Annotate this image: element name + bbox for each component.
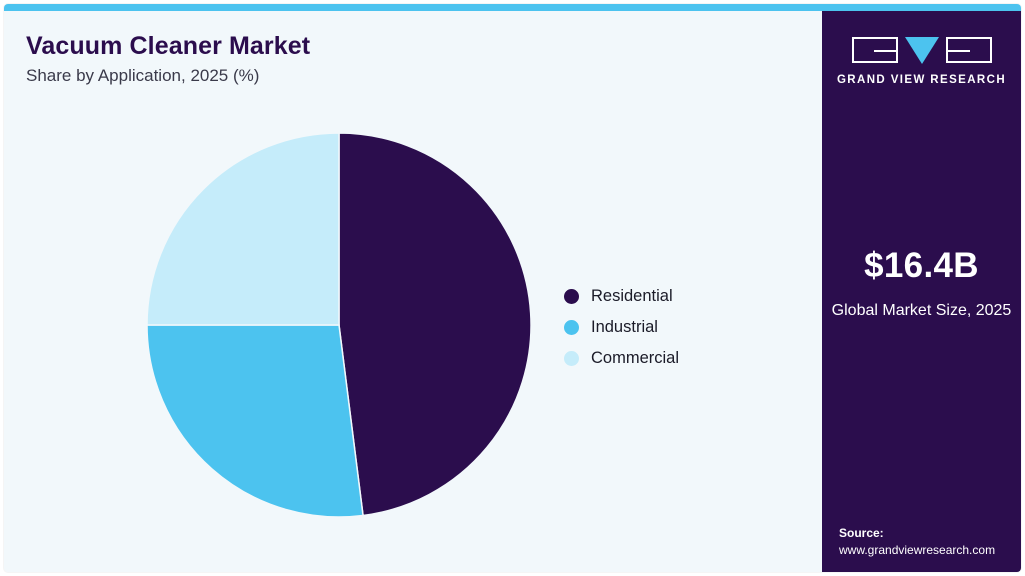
- source-url: www.grandviewresearch.com: [839, 543, 1019, 557]
- logo-left-bracket-icon: [852, 37, 898, 63]
- page-subtitle: Share by Application, 2025 (%): [26, 66, 259, 86]
- legend-label: Commercial: [591, 349, 679, 368]
- chart-legend: Residential Industrial Commercial: [564, 281, 794, 374]
- legend-label: Residential: [591, 287, 673, 306]
- logo: GRAND VIEW RESEARCH: [822, 33, 1021, 86]
- page-title: Vacuum Cleaner Market: [26, 32, 310, 61]
- pie-chart: [146, 132, 532, 518]
- logo-triangle-icon: [905, 37, 939, 64]
- logo-marks: [822, 33, 1021, 67]
- source-label: Source:: [839, 526, 1019, 540]
- logo-right-bracket-icon: [946, 37, 992, 63]
- legend-swatch-icon: [564, 351, 579, 366]
- top-accent-bar: [4, 4, 1021, 11]
- brand-panel: GRAND VIEW RESEARCH $16.4B Global Market…: [822, 11, 1021, 572]
- legend-label: Industrial: [591, 318, 658, 337]
- market-size-value: $16.4B: [822, 246, 1021, 286]
- chart-panel: Vacuum Cleaner Market Share by Applicati…: [4, 11, 822, 572]
- logo-text: GRAND VIEW RESEARCH: [822, 74, 1021, 86]
- legend-item-commercial: Commercial: [564, 343, 794, 374]
- legend-swatch-icon: [564, 289, 579, 304]
- legend-item-residential: Residential: [564, 281, 794, 312]
- legend-item-industrial: Industrial: [564, 312, 794, 343]
- market-size-caption: Global Market Size, 2025: [822, 299, 1021, 322]
- source-block: Source: www.grandviewresearch.com: [839, 526, 1019, 557]
- legend-swatch-icon: [564, 320, 579, 335]
- pie-chart-svg: [146, 132, 532, 518]
- pie-slice-commercial: [147, 133, 339, 325]
- pie-slice-industrial: [147, 325, 363, 517]
- pie-slice-residential: [339, 133, 531, 515]
- chart-card: Vacuum Cleaner Market Share by Applicati…: [4, 4, 1021, 572]
